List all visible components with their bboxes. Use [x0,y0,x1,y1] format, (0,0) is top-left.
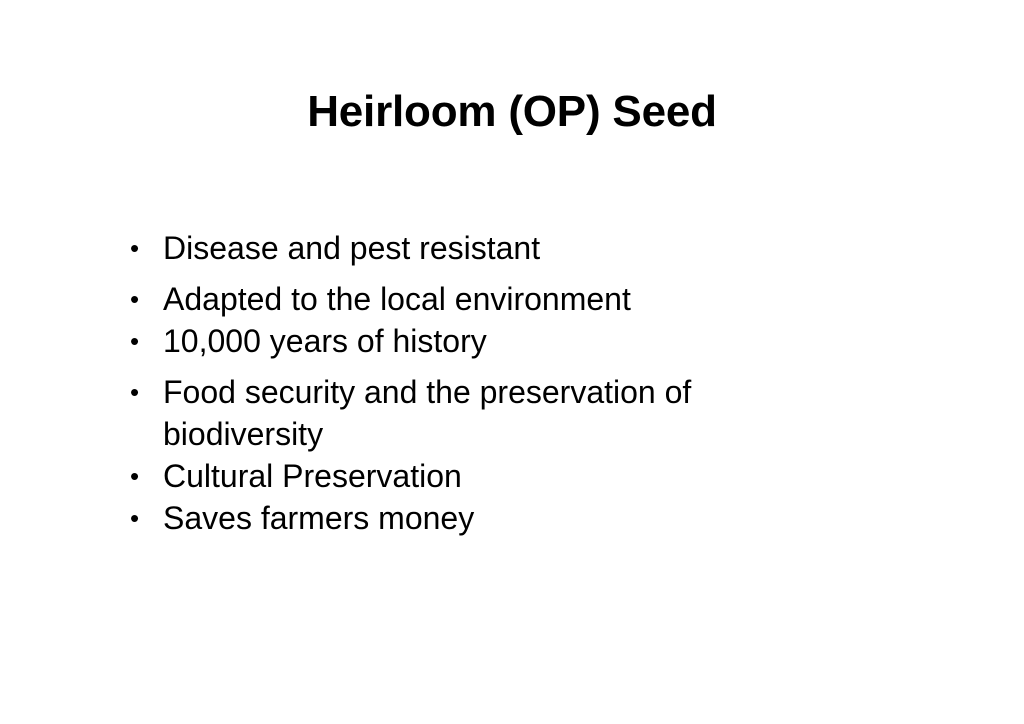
list-item: • 10,000 years of history [128,320,828,362]
list-item-label: Cultural Preservation [163,455,828,497]
presentation-slide: Heirloom (OP) Seed • Disease and pest re… [0,0,1024,724]
list-item: • Adapted to the local environment [128,278,828,320]
page-title: Heirloom (OP) Seed [0,86,1024,138]
bullet-icon: • [130,455,144,497]
list-item: • Food security and the preservation of … [128,371,828,455]
bullet-icon: • [130,320,144,362]
list-item-label: Disease and pest resistant [163,227,828,269]
list-item-label: Saves farmers money [163,497,828,539]
list-item: • Saves farmers money [128,497,828,539]
bullet-list: • Disease and pest resistant • Adapted t… [128,218,828,539]
bullet-icon: • [130,227,144,269]
list-item-label: Adapted to the local environment [163,278,828,320]
list-item: • Disease and pest resistant [128,227,828,269]
list-item: • Cultural Preservation [128,455,828,497]
bullet-icon: • [130,278,144,320]
list-item-label: Food security and the preservation of bi… [163,371,828,455]
bullet-icon: • [130,497,144,539]
bullet-icon: • [130,371,144,413]
list-item-label: 10,000 years of history [163,320,828,362]
